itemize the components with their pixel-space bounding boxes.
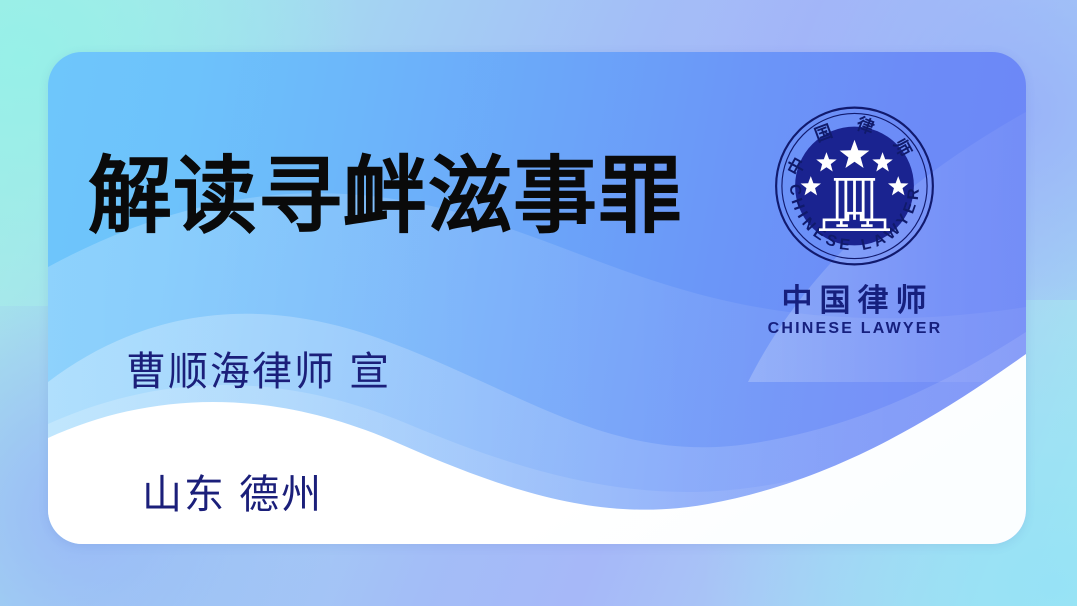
chinese-lawyer-emblem-icon: 中国律师 CHINESE LAWYER <box>772 100 937 272</box>
logo-wordmark-cn: 中国律师 <box>744 284 964 318</box>
slide-canvas: 解读寻衅滋事罪 曹顺海律师 宣 山东 德州 中国律师 <box>0 0 1077 606</box>
chinese-lawyer-logo-block: 中国律师 CHINESE LAWYER <box>744 100 964 338</box>
slide-card: 解读寻衅滋事罪 曹顺海律师 宣 山东 德州 中国律师 <box>48 52 1026 544</box>
location-label: 山东 德州 <box>142 462 323 520</box>
presenter-byline: 曹顺海律师 宣 <box>126 339 391 397</box>
title-block: 解读寻衅滋事罪 <box>88 152 788 240</box>
slide-title: 解读寻衅滋事罪 <box>88 152 788 240</box>
logo-wordmark-en: CHINESE LAWYER <box>744 320 964 338</box>
